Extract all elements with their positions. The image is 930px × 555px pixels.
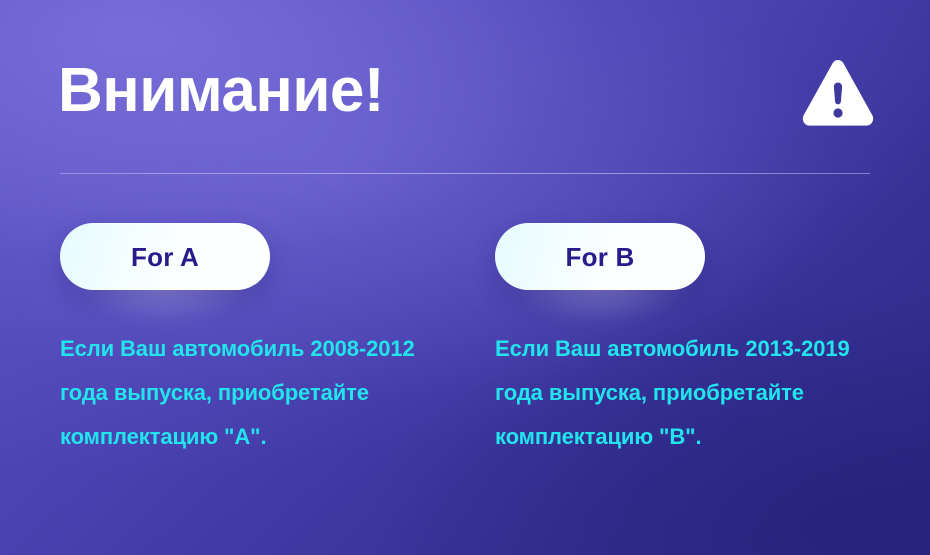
header-divider: [60, 173, 870, 174]
attention-banner: Внимание! For A Если Ваш автомобиль 2008…: [0, 0, 930, 555]
for-b-button-label: For B: [566, 244, 635, 270]
warning-triangle-icon: [800, 58, 876, 132]
option-a-line-2: года выпуска, приобретайте: [60, 371, 460, 415]
option-a-column: For A: [60, 223, 270, 291]
option-b-line-1: Если Ваш автомобиль 2013-2019: [495, 327, 895, 371]
option-a-button-wrap: For A: [60, 223, 270, 291]
option-a-line-1: Если Ваш автомобиль 2008-2012: [60, 327, 460, 371]
for-a-button-label: For A: [131, 244, 199, 270]
option-a-line-3: комплектацию "A".: [60, 415, 460, 459]
option-b-column: For B: [495, 223, 705, 291]
for-b-button[interactable]: For B: [495, 223, 705, 290]
option-a-description: Если Ваш автомобиль 2008-2012 года выпус…: [60, 327, 460, 459]
option-b-line-3: комплектацию "B".: [495, 415, 895, 459]
option-b-line-2: года выпуска, приобретайте: [495, 371, 895, 415]
page-title: Внимание!: [58, 52, 384, 130]
option-b-description: Если Ваш автомобиль 2013-2019 года выпус…: [495, 327, 895, 459]
for-a-button[interactable]: For A: [60, 223, 270, 290]
option-b-button-wrap: For B: [495, 223, 705, 291]
